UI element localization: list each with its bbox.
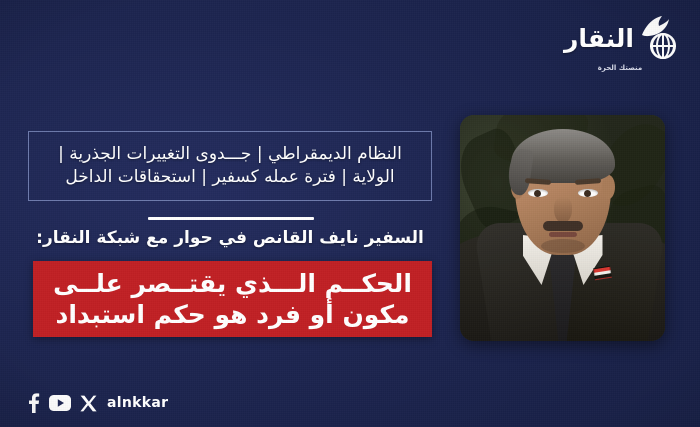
- headline-quote-box: الحكــم الـــذي يقتــصر علــى مكون أو فر…: [33, 261, 432, 337]
- logo-wordmark-row: النقار: [564, 17, 676, 61]
- nose: [554, 197, 572, 223]
- pupil-right: [584, 190, 591, 197]
- youtube-icon[interactable]: [49, 395, 71, 411]
- topics-line-1: النظام الديمقراطي | جـــدوى التغييرات ال…: [58, 144, 402, 165]
- logo-wordmark: النقار: [564, 26, 634, 51]
- chin-shadow: [541, 239, 585, 253]
- moustache: [543, 221, 583, 231]
- ear-right: [602, 175, 615, 199]
- facebook-icon[interactable]: [28, 393, 40, 413]
- topics-box: النظام الديمقراطي | جـــدوى التغييرات ال…: [28, 131, 432, 201]
- poster-canvas: النقار منصتك الحرة النظام الديمقراطي | ج…: [0, 0, 700, 427]
- social-bar: alnkkar: [28, 393, 168, 413]
- mouth: [549, 232, 577, 237]
- x-twitter-icon[interactable]: [80, 395, 97, 412]
- topics-line-2: الولاية | فترة عمله كسفير | استحقاقات ال…: [65, 167, 394, 188]
- dove-globe-icon: [636, 17, 676, 61]
- headline-line-1: الحكــم الـــذي يقتــصر علــى: [53, 269, 412, 299]
- headline-line-2: مكون أو فرد هو حكم استبداد: [56, 300, 410, 330]
- brand-logo[interactable]: النقار منصتك الحرة: [554, 8, 686, 80]
- portrait-photo: [460, 115, 665, 341]
- globe-icon: [650, 33, 676, 59]
- interview-subtitle: السفير نايف القانص في حوار مع شبكة النقا…: [28, 228, 432, 248]
- logo-tagline: منصتك الحرة: [598, 64, 642, 72]
- pupil-left: [534, 190, 541, 197]
- divider-rule: [148, 217, 314, 220]
- social-handle[interactable]: alnkkar: [107, 395, 168, 411]
